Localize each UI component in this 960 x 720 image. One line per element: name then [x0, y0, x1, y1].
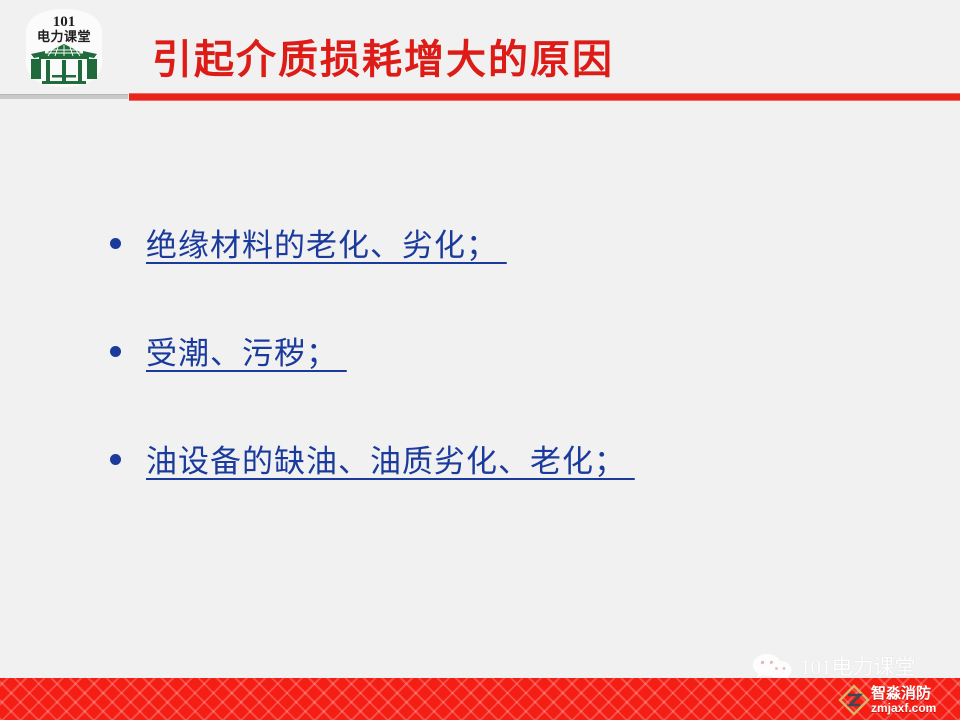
- page-title: 引起介质损耗增大的原因: [152, 36, 614, 84]
- bullet-item-text: 油设备的缺油、油质劣化、老化；: [146, 444, 635, 480]
- watermark: 智淼消防 zmjaxf.com: [838, 682, 936, 718]
- bullet-dot-icon: [110, 346, 121, 357]
- slide-canvas: 101 电力课堂: [0, 0, 960, 720]
- header-divider-red: [129, 93, 960, 101]
- watermark-title: 智淼消防: [871, 686, 936, 702]
- svg-text:101: 101: [53, 14, 76, 30]
- footer-red-band: [0, 678, 960, 720]
- list-item: 绝缘材料的老化、劣化；: [110, 228, 910, 264]
- bullet-item-text: 绝缘材料的老化、劣化；: [146, 228, 507, 264]
- list-item: 油设备的缺油、油质劣化、老化；: [110, 444, 910, 480]
- 101-dianli-ketang-logo: 101 电力课堂: [12, 4, 116, 92]
- bullet-list: 绝缘材料的老化、劣化； 受潮、污秽； 油设备的缺油、油质劣化、老化；: [110, 228, 910, 480]
- watermark-url: zmjaxf.com: [871, 702, 936, 715]
- bullet-dot-icon: [110, 454, 121, 465]
- header-divider-gray: [0, 94, 128, 99]
- bullet-dot-icon: [110, 238, 121, 249]
- wechat-account-name: 101电力课堂: [800, 655, 916, 679]
- slide-header: 101 电力课堂: [0, 0, 960, 104]
- watermark-text-block: 智淼消防 zmjaxf.com: [871, 686, 936, 715]
- list-item: 受潮、污秽；: [110, 336, 910, 372]
- bullet-item-text: 受潮、污秽；: [146, 336, 347, 372]
- zhimiao-diamond-icon: [838, 684, 870, 716]
- svg-text:电力课堂: 电力课堂: [37, 29, 91, 44]
